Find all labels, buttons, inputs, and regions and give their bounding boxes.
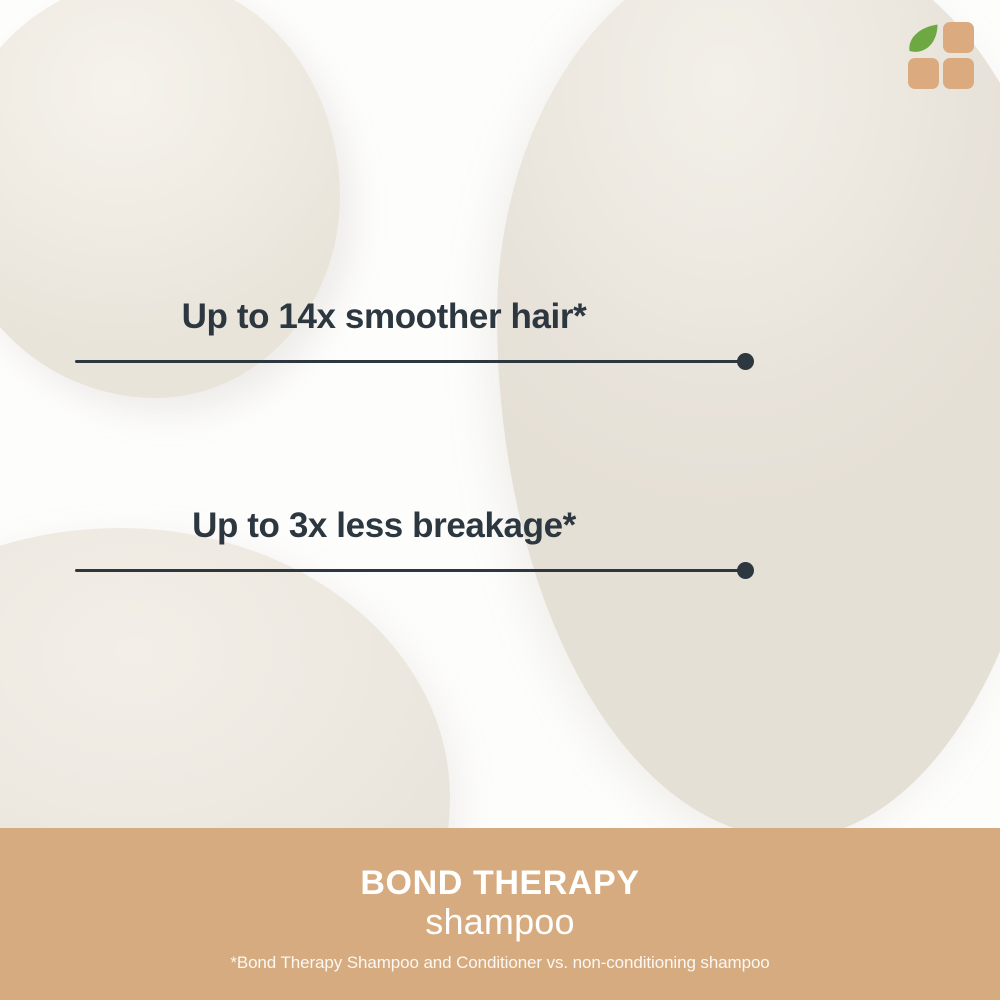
- claim-rule-line-1: [75, 360, 747, 363]
- claim-rule-dot-1: [737, 353, 754, 370]
- product-promo-graphic: Up to 14x smoother hair* Up to 3x less b…: [0, 0, 1000, 1000]
- claim-rule-2: [0, 560, 790, 582]
- claim-text-2: Up to 3x less breakage*: [0, 505, 790, 546]
- product-banner: BOND THERAPY shampoo *Bond Therapy Shamp…: [0, 828, 1000, 1000]
- cream-blob-right: [497, 0, 1000, 838]
- claim-row-1: Up to 14x smoother hair*: [0, 296, 790, 373]
- claim-row-2: Up to 3x less breakage*: [0, 505, 790, 582]
- claim-rule-line-2: [75, 569, 747, 572]
- claim-rule-dot-2: [737, 562, 754, 579]
- claim-text-1: Up to 14x smoother hair*: [0, 296, 790, 337]
- claim-rule-1: [0, 351, 790, 373]
- brand-logo: [904, 18, 978, 92]
- leaf-grid-logo-icon: [904, 18, 978, 92]
- product-type-subtitle: shampoo: [425, 901, 575, 943]
- product-line-title: BOND THERAPY: [360, 864, 639, 903]
- claim-footnote: *Bond Therapy Shampoo and Conditioner vs…: [230, 953, 769, 973]
